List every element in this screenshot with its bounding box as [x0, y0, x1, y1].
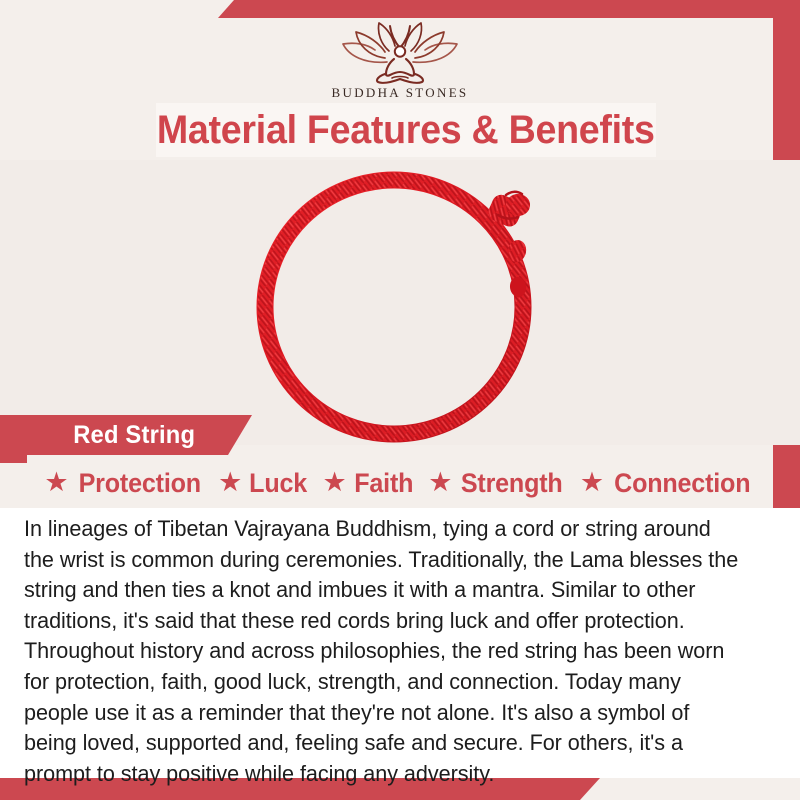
title-banner: Material Features & Benefits — [156, 103, 656, 157]
top-accent-band — [218, 0, 800, 18]
benefit-item-connection: ★ Connection — [580, 470, 756, 497]
benefit-item-strength: ★ Strength — [428, 470, 567, 497]
benefit-item-luck: ★ Luck — [218, 470, 309, 497]
product-label-ribbon: Red String — [0, 415, 252, 455]
star-icon: ★ — [323, 469, 347, 496]
benefit-label: Luck — [250, 470, 308, 497]
star-icon: ★ — [44, 469, 68, 496]
description-panel: In lineages of Tibetan Vajrayana Buddhis… — [0, 508, 800, 778]
star-icon: ★ — [218, 469, 242, 496]
product-label-text: Red String — [73, 421, 195, 450]
product-image — [0, 160, 800, 445]
star-icon: ★ — [428, 469, 452, 496]
red-braided-bracelet-icon — [218, 160, 578, 445]
benefit-label: Strength — [461, 470, 563, 497]
brand-logo: BUDDHA STONES — [0, 18, 800, 101]
benefits-row: ★ Protection ★ Luck ★ Faith ★ Strength ★… — [0, 461, 800, 506]
star-icon: ★ — [580, 469, 604, 496]
benefit-label: Connection — [614, 470, 750, 497]
benefit-item-protection: ★ Protection — [44, 470, 205, 497]
lotus-meditation-figure-icon — [325, 18, 475, 84]
infographic-page: BUDDHA STONES Material Features & Benefi… — [0, 0, 800, 800]
page-title: Material Features & Benefits — [157, 110, 655, 150]
benefit-label: Protection — [78, 470, 200, 497]
brand-name: BUDDHA STONES — [332, 85, 469, 101]
description-text: In lineages of Tibetan Vajrayana Buddhis… — [24, 514, 741, 789]
benefit-label: Faith — [354, 470, 413, 497]
benefit-item-faith: ★ Faith — [323, 470, 416, 497]
